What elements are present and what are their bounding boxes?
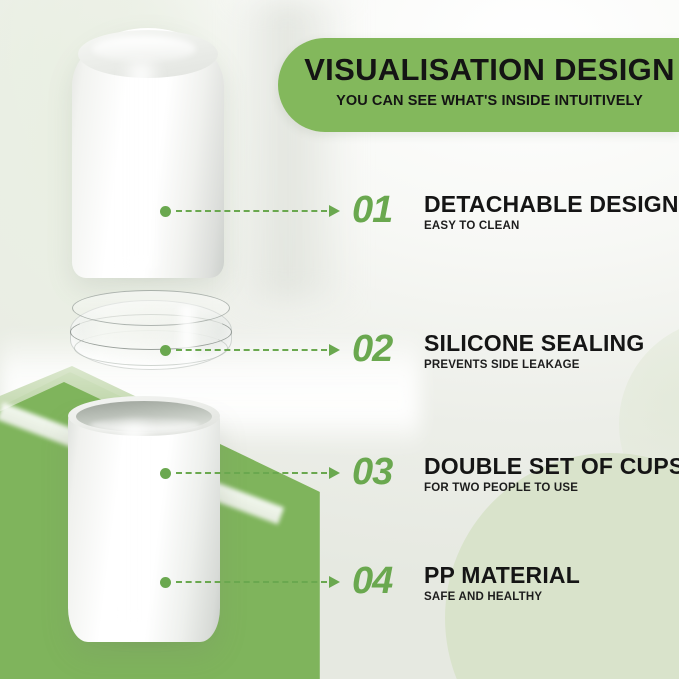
callout-connector-03 <box>160 467 340 479</box>
feature-number: 02 <box>352 330 392 368</box>
feature-subtitle: PREVENTS SIDE LEAKAGE <box>424 360 580 372</box>
feature-subtitle: EASY TO CLEAN <box>424 221 519 233</box>
connector-arrow-icon <box>329 344 340 356</box>
feature-number: 01 <box>352 191 392 229</box>
connector-dot-icon <box>160 206 171 217</box>
feature-title: SILICONE SEALING <box>424 332 644 355</box>
callout-connector-04 <box>160 576 340 588</box>
infographic-canvas: VISUALISATION DESIGN YOU CAN SEE WHAT'S … <box>0 0 679 679</box>
connector-dot-icon <box>160 577 171 588</box>
connector-dot-icon <box>160 468 171 479</box>
header-subtitle: YOU CAN SEE WHAT'S INSIDE INTUITIVELY <box>300 93 679 109</box>
feature-number: 03 <box>352 453 392 491</box>
feature-subtitle: SAFE AND HEALTHY <box>424 592 542 604</box>
connector-dashed-line <box>176 349 327 351</box>
connector-dashed-line <box>176 472 327 474</box>
feature-subtitle: FOR TWO PEOPLE TO USE <box>424 483 578 495</box>
cap-top-highlight <box>92 36 196 62</box>
cup-specular-sheen <box>114 424 154 624</box>
callout-connector-01 <box>160 205 340 217</box>
connector-arrow-icon <box>329 467 340 479</box>
feature-title: DETACHABLE DESIGN <box>424 193 679 216</box>
connector-dashed-line <box>176 581 327 583</box>
connector-arrow-icon <box>329 576 340 588</box>
callout-connector-02 <box>160 344 340 356</box>
connector-arrow-icon <box>329 205 340 217</box>
feature-title: DOUBLE SET OF CUPS <box>424 455 679 478</box>
cap-specular-sheen <box>120 62 162 270</box>
feature-title: PP MATERIAL <box>424 564 580 587</box>
feature-number: 04 <box>352 562 392 600</box>
connector-dot-icon <box>160 345 171 356</box>
product-silicone-ring <box>62 286 238 382</box>
header-title: VISUALISATION DESIGN <box>300 52 679 88</box>
connector-dashed-line <box>176 210 327 212</box>
